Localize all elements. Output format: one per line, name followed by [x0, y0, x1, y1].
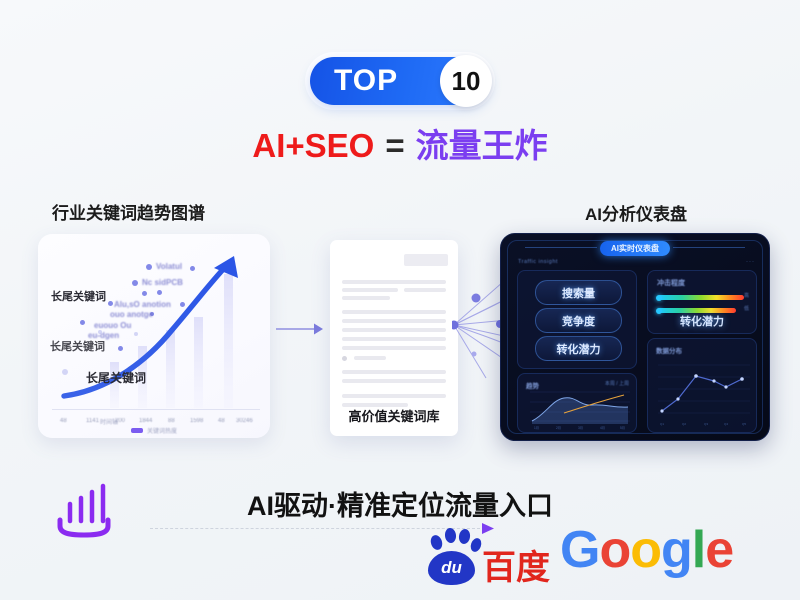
chart-node — [132, 280, 138, 286]
svg-text:Q3: Q3 — [704, 422, 708, 426]
top-badge-rank: 10 — [440, 55, 492, 107]
chart-node — [80, 320, 85, 325]
flow-arrow-right-icon — [276, 322, 324, 336]
x-tick: 88 — [168, 418, 175, 424]
bottom-tagline: AI驱动·精准定位流量入口 — [0, 484, 800, 523]
longtail-label: 长尾关键词 — [51, 288, 106, 304]
keyword-trend-card: Volatul Nc sidPCB Alu,sO anotion ouo ano… — [38, 234, 270, 438]
gauge-tick-high: 高 — [744, 292, 749, 299]
chart-blur-text: euouo Ou — [94, 321, 131, 330]
chart-node — [190, 266, 195, 271]
google-logo: Google — [560, 524, 733, 576]
svg-text:2月: 2月 — [556, 426, 561, 430]
chart-node — [180, 302, 185, 307]
baidu-logo: du 百度 — [425, 527, 575, 583]
chart-node — [118, 346, 123, 351]
trend-chart-body: Volatul Nc sidPCB Alu,sO anotion ouo ano… — [38, 234, 270, 438]
chart-blur-text: ouo anotge — [110, 310, 153, 319]
chart-node — [142, 291, 147, 296]
keyword-library-document-card: 高价值关键词库 — [330, 240, 458, 436]
gauge-bar — [658, 295, 744, 300]
x-tick: 48 — [60, 418, 67, 424]
chart-blur-text: Nc sidPCB — [142, 278, 183, 287]
infographic-canvas: TOP 10 AI+SEO=流量王炸 行业关键词趋势图谱 AI分析仪表盘 — [0, 0, 800, 600]
caption-right-dashboard: AI分析仪表盘 — [585, 200, 687, 225]
doc-card-title: 高价值关键词库 — [330, 406, 458, 425]
area-chart-svg: 1月2月 3月4月5月 — [518, 374, 636, 432]
legend-label: 关键词热度 — [147, 426, 177, 435]
google-letter: g — [661, 521, 692, 579]
baidu-cn-label: 百度 — [482, 551, 550, 585]
metric-pill-search-volume[interactable]: 搜索量 — [535, 280, 622, 305]
page-title: AI+SEO=流量王炸 — [0, 129, 800, 162]
chart-x-axis — [52, 409, 260, 410]
baidu-latin-label: du — [428, 551, 475, 585]
top-badge-label: TOP — [334, 66, 398, 96]
headline-right: 流量王炸 — [416, 127, 548, 164]
dashboard-rule-right — [673, 247, 745, 248]
google-letter: o — [599, 521, 630, 579]
doc-header-block — [404, 254, 448, 266]
chart-node — [134, 332, 138, 336]
chart-blur-text: Volatul — [156, 262, 182, 271]
metric-pill-conversion[interactable]: 转化潜力 — [535, 336, 622, 361]
google-letter: e — [705, 521, 733, 579]
google-letter: o — [630, 521, 661, 579]
chart-node — [146, 264, 152, 270]
x-tick: 48 — [218, 418, 225, 424]
longtail-label: 长尾关键词 — [50, 338, 105, 354]
metric-pill-competition[interactable]: 竞争度 — [535, 308, 622, 333]
dashboard-menu-icon[interactable]: ··· — [746, 259, 755, 265]
google-letter: G — [560, 521, 599, 579]
ai-dashboard-card: AI实时仪表盘 Traffic insight ··· 搜索量 竞争度 转化潜力… — [500, 233, 770, 441]
svg-text:4月: 4月 — [600, 426, 605, 430]
x-tick: 1844 — [139, 418, 152, 424]
line-chart-svg: Q1Q2 Q3Q4Q5 — [648, 339, 756, 432]
x-tick: 1141 — [86, 418, 99, 424]
chart-node — [108, 301, 113, 306]
metric-pills-panel: 搜索量 竞争度 转化潜力 — [517, 270, 637, 369]
x-tick: 30246 — [236, 418, 253, 424]
svg-text:Q1: Q1 — [660, 422, 664, 426]
gauge-panel: 冲击程度 高 低 转化潜力 — [647, 270, 757, 334]
dashboard-subtitle: Traffic insight — [518, 259, 558, 265]
area-chart-panel: 趋势 本周 / 上周 1月2月 3月4月5月 — [517, 373, 637, 433]
svg-text:Q4: Q4 — [724, 422, 728, 426]
gauge-panel-title: 冲击程度 — [657, 278, 685, 288]
google-letter: l — [692, 521, 705, 579]
trend-chart-svg — [38, 234, 270, 438]
gauge-tick-low: 低 — [744, 305, 749, 312]
svg-text:1月: 1月 — [534, 426, 539, 430]
line-chart-panel: 数据分布 Q1Q2 Q3Q4Q5 — [647, 338, 757, 433]
longtail-label: 长尾关键词 — [86, 369, 146, 386]
chart-node — [62, 369, 68, 375]
gauge-knob[interactable] — [656, 295, 662, 301]
baidu-paw-icon — [444, 527, 457, 543]
svg-text:Q5: Q5 — [742, 422, 746, 426]
chart-node — [157, 290, 162, 295]
svg-text:Q2: Q2 — [682, 422, 686, 426]
doc-bullet-icon — [342, 356, 347, 361]
baidu-paw-icon — [458, 528, 471, 545]
chart-legend: 关键词热度 — [131, 426, 177, 435]
dashboard-title-pill: AI实时仪表盘 — [600, 241, 670, 256]
x-tick: 1598 — [190, 418, 203, 424]
headline-operator: = — [385, 127, 404, 164]
headline-left: AI+SEO — [252, 127, 374, 164]
chart-x-label: 时间轴 — [100, 417, 118, 426]
gauge-overlay-label: 转化潜力 — [648, 313, 756, 329]
legend-swatch — [131, 428, 143, 433]
baidu-paw-icon — [429, 534, 444, 552]
svg-text:5月: 5月 — [620, 426, 625, 430]
svg-text:3月: 3月 — [578, 426, 583, 430]
top-rank-badge: TOP 10 — [310, 57, 490, 105]
chart-blur-text: Alu,sO anotion — [114, 300, 171, 309]
caption-left-chart: 行业关键词趋势图谱 — [52, 199, 205, 224]
dashboard-rule-left — [525, 247, 597, 248]
